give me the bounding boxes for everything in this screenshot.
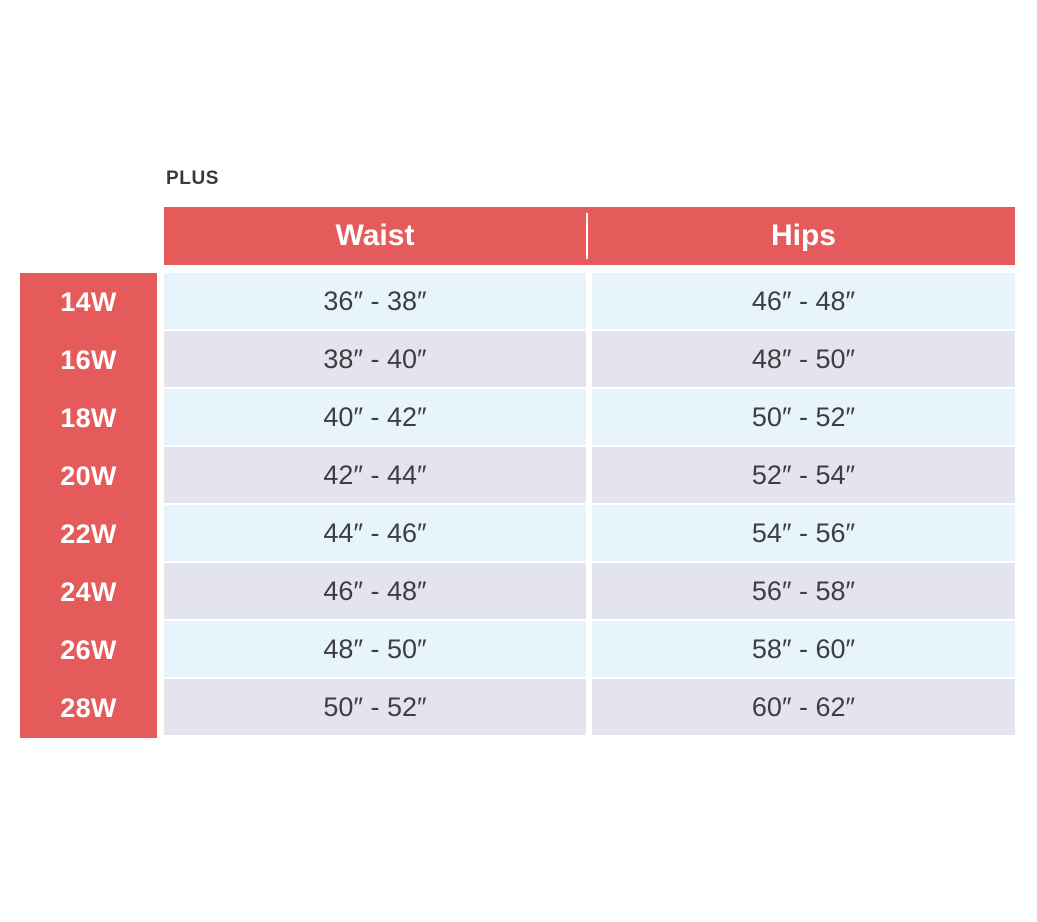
table-header-row: Waist Hips	[164, 207, 1015, 265]
table-row: 50″ - 52″ 60″ - 62″	[164, 679, 1015, 735]
table-row: 38″ - 40″ 48″ - 50″	[164, 331, 1015, 387]
hips-value: 58″ - 60″	[592, 621, 1015, 677]
size-label-column: 14W 16W 18W 20W 22W 24W 26W 28W	[20, 273, 157, 738]
waist-value: 48″ - 50″	[164, 621, 586, 677]
size-label-cell: 22W	[20, 506, 157, 564]
table-row: 48″ - 50″ 58″ - 60″	[164, 621, 1015, 677]
hips-value: 50″ - 52″	[592, 389, 1015, 445]
size-label-cell: 28W	[20, 680, 157, 738]
table-row: 36″ - 38″ 46″ - 48″	[164, 273, 1015, 329]
size-label-cell: 18W	[20, 389, 157, 447]
waist-value: 50″ - 52″	[164, 679, 586, 735]
waist-value: 46″ - 48″	[164, 563, 586, 619]
waist-value: 40″ - 42″	[164, 389, 586, 445]
table-row: 46″ - 48″ 56″ - 58″	[164, 563, 1015, 619]
waist-value: 38″ - 40″	[164, 331, 586, 387]
chart-category-label: PLUS	[166, 169, 219, 188]
column-header-hips: Hips	[592, 207, 1015, 265]
waist-value: 44″ - 46″	[164, 505, 586, 561]
hips-value: 52″ - 54″	[592, 447, 1015, 503]
table-row: 42″ - 44″ 52″ - 54″	[164, 447, 1015, 503]
hips-value: 46″ - 48″	[592, 273, 1015, 329]
table-row: 44″ - 46″ 54″ - 56″	[164, 505, 1015, 561]
size-label-cell: 26W	[20, 622, 157, 680]
hips-value: 60″ - 62″	[592, 679, 1015, 735]
hips-value: 54″ - 56″	[592, 505, 1015, 561]
hips-value: 56″ - 58″	[592, 563, 1015, 619]
size-label-cell: 14W	[20, 273, 157, 331]
waist-value: 36″ - 38″	[164, 273, 586, 329]
column-header-waist: Waist	[164, 207, 586, 265]
size-label-cell: 24W	[20, 564, 157, 622]
table-row: 40″ - 42″ 50″ - 52″	[164, 389, 1015, 445]
header-column-divider	[586, 213, 588, 259]
waist-value: 42″ - 44″	[164, 447, 586, 503]
size-chart: PLUS 14W 16W 18W 20W 22W 24W 26W 28W Wai…	[0, 0, 1037, 922]
size-label-cell: 20W	[20, 447, 157, 505]
table-body: 36″ - 38″ 46″ - 48″ 38″ - 40″ 48″ - 50″ …	[164, 273, 1015, 735]
size-label-cell: 16W	[20, 331, 157, 389]
measurements-table: Waist Hips 36″ - 38″ 46″ - 48″ 38″ - 40″…	[164, 207, 1015, 735]
hips-value: 48″ - 50″	[592, 331, 1015, 387]
